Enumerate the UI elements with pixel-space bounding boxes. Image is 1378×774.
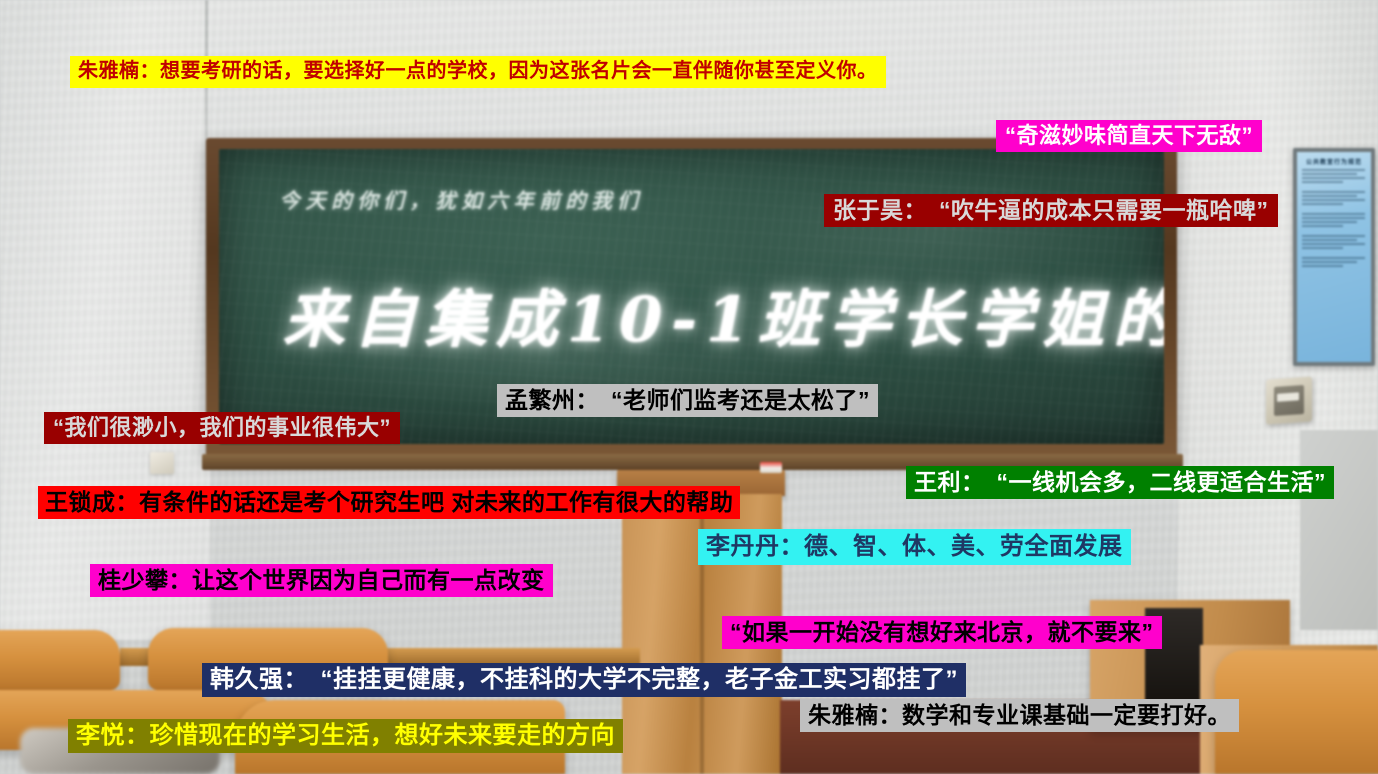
chair (1215, 650, 1378, 774)
cap-ruguo-beijing: “如果一开始没有想好来北京，就不要来” (722, 616, 1162, 649)
cap-zhu-yanan-top: 朱雅楠：想要考研的话，要选择好一点的学校，因为这张名片会一直伴随你甚至定义你。 (70, 56, 886, 88)
cap-li-dandan: 李丹丹：德、智、体、美、劳全面发展 (698, 529, 1131, 565)
cap-wang-li: 王利： “一线机会多，二线更适合生活” (906, 466, 1334, 499)
cap-qizi-miaowei: “奇滋妙味简直天下无敌” (996, 120, 1262, 152)
wall-notice-board: 公共教室行为规范 (1293, 148, 1375, 366)
chair (0, 630, 120, 690)
right-wall-panel (1300, 430, 1378, 630)
cap-gui-shaopan: 桂少攀：让这个世界因为自己而有一点改变 (90, 564, 553, 597)
chalk-box (760, 462, 782, 473)
notice-board-title: 公共教室行为规范 (1301, 157, 1367, 166)
cap-zhang-yuhao: 张于昊： “吹牛逼的成本只需要一瓶哈啤” (824, 194, 1278, 227)
cap-women-hen-miaoxiao: “我们很渺小，我们的事业很伟大” (44, 412, 400, 444)
wall-light-switch (150, 452, 174, 474)
wall-power-socket (1266, 376, 1312, 424)
cap-han-jiuqiang: 韩久强： “挂挂更健康，不挂科的大学不完整，老子金工实习都挂了” (202, 663, 966, 697)
blackboard-subtitle: 今天的你们，犹如六年前的我们 (279, 185, 643, 215)
blackboard-title: 来自集成10-1班学长学姐的话 (283, 269, 1164, 359)
notice-board-content: 公共教室行为规范 (1297, 152, 1371, 362)
cap-zhu-yanan-bottom: 朱雅楠：数学和专业课基础一定要打好。 (800, 699, 1239, 732)
cap-wang-suocheng: 王锁成：有条件的话还是考个研究生吧 对未来的工作有很大的帮助 (38, 486, 740, 519)
socket-inner (1274, 385, 1304, 416)
classroom-screenshot: 今天的你们，犹如六年前的我们 来自集成10-1班学长学姐的话 公共教室行为规范 (0, 0, 1378, 774)
cap-li-yue: 李悦：珍惜现在的学习生活，想好未来要走的方向 (68, 719, 623, 753)
cap-meng-fanzhou: 孟繁州： “老师们监考还是太松了” (497, 384, 878, 417)
